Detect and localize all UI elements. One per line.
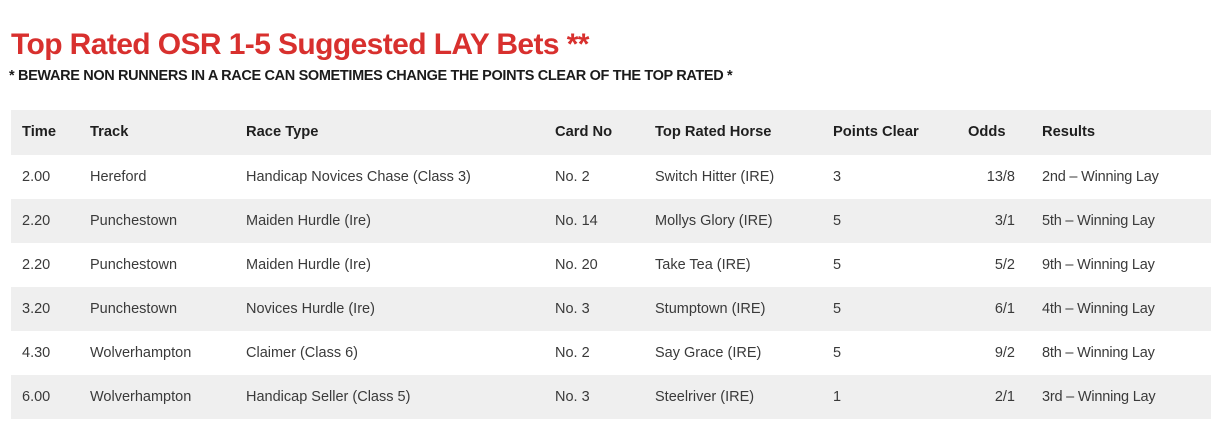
cell-odds: 6/1 [956,287,1031,331]
cell-odds: 13/8 [956,155,1031,199]
page-title: Top Rated OSR 1-5 Suggested LAY Bets ** [11,26,589,64]
cell-race: Handicap Seller (Class 5) [235,375,545,419]
cell-time: 2.00 [11,155,79,199]
cell-odds: 3/1 [956,199,1031,243]
page-root: Top Rated OSR 1-5 Suggested LAY Bets ** … [0,0,1211,448]
table-row: 4.30WolverhamptonClaimer (Class 6)No. 2S… [11,331,1211,375]
cell-results: 5th – Winning Lay [1031,199,1211,243]
cell-time: 2.20 [11,243,79,287]
cell-points: 5 [823,243,956,287]
cell-track: Punchestown [79,287,235,331]
bets-table-container: Time Track Race Type Card No Top Rated H… [11,110,1211,419]
cell-points: 3 [823,155,956,199]
column-header-time[interactable]: Time [11,110,79,155]
cell-results: 3rd – Winning Lay [1031,375,1211,419]
cell-horse: Mollys Glory (IRE) [645,199,823,243]
cell-points: 1 [823,375,956,419]
column-header-top-rated-horse[interactable]: Top Rated Horse [645,110,823,155]
column-header-points-clear[interactable]: Points Clear [823,110,956,155]
cell-points: 5 [823,199,956,243]
cell-race: Maiden Hurdle (Ire) [235,243,545,287]
cell-results: 9th – Winning Lay [1031,243,1211,287]
column-header-track[interactable]: Track [79,110,235,155]
column-header-results[interactable]: Results [1031,110,1211,155]
cell-race: Handicap Novices Chase (Class 3) [235,155,545,199]
cell-points: 5 [823,287,956,331]
table-body: 2.00HerefordHandicap Novices Chase (Clas… [11,155,1211,419]
cell-card: No. 3 [545,287,645,331]
table-header-row: Time Track Race Type Card No Top Rated H… [11,110,1211,155]
cell-card: No. 14 [545,199,645,243]
table-row: 2.20PunchestownMaiden Hurdle (Ire)No. 14… [11,199,1211,243]
cell-horse: Say Grace (IRE) [645,331,823,375]
cell-time: 4.30 [11,331,79,375]
cell-track: Punchestown [79,243,235,287]
cell-race: Claimer (Class 6) [235,331,545,375]
cell-time: 6.00 [11,375,79,419]
cell-time: 2.20 [11,199,79,243]
cell-track: Punchestown [79,199,235,243]
warning-note: * BEWARE NON RUNNERS IN A RACE CAN SOMET… [9,66,732,86]
column-header-card-no[interactable]: Card No [545,110,645,155]
column-header-odds[interactable]: Odds [956,110,1031,155]
table-row: 2.00HerefordHandicap Novices Chase (Clas… [11,155,1211,199]
cell-horse: Stumptown (IRE) [645,287,823,331]
table-header: Time Track Race Type Card No Top Rated H… [11,110,1211,155]
cell-odds: 9/2 [956,331,1031,375]
cell-odds: 5/2 [956,243,1031,287]
table-row: 6.00WolverhamptonHandicap Seller (Class … [11,375,1211,419]
cell-time: 3.20 [11,287,79,331]
cell-horse: Take Tea (IRE) [645,243,823,287]
cell-horse: Steelriver (IRE) [645,375,823,419]
table-row: 2.20PunchestownMaiden Hurdle (Ire)No. 20… [11,243,1211,287]
cell-track: Hereford [79,155,235,199]
cell-race: Maiden Hurdle (Ire) [235,199,545,243]
cell-race: Novices Hurdle (Ire) [235,287,545,331]
column-header-race-type[interactable]: Race Type [235,110,545,155]
cell-results: 2nd – Winning Lay [1031,155,1211,199]
bets-table: Time Track Race Type Card No Top Rated H… [11,110,1211,419]
cell-odds: 2/1 [956,375,1031,419]
cell-track: Wolverhampton [79,375,235,419]
cell-card: No. 2 [545,331,645,375]
cell-card: No. 2 [545,155,645,199]
cell-horse: Switch Hitter (IRE) [645,155,823,199]
cell-results: 4th – Winning Lay [1031,287,1211,331]
cell-track: Wolverhampton [79,331,235,375]
table-row: 3.20PunchestownNovices Hurdle (Ire)No. 3… [11,287,1211,331]
cell-card: No. 20 [545,243,645,287]
cell-points: 5 [823,331,956,375]
cell-card: No. 3 [545,375,645,419]
cell-results: 8th – Winning Lay [1031,331,1211,375]
